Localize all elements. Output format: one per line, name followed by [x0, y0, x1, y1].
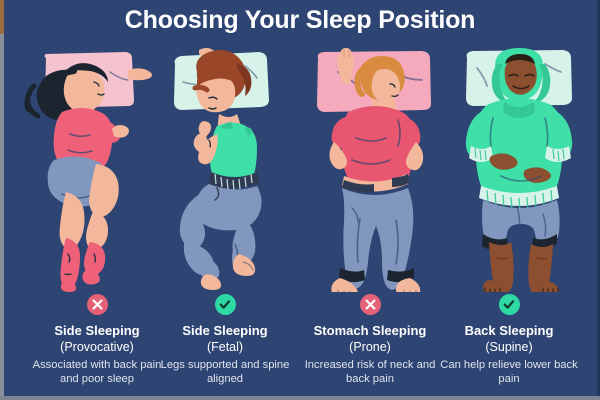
caption-row: Side Sleeping (Provocative) Associated w…: [0, 294, 600, 400]
caption-title: Back Sleeping: [434, 323, 584, 339]
left-edge-strip: [0, 0, 4, 400]
illustration-row: [0, 42, 600, 292]
page-title: Choosing Your Sleep Position: [0, 4, 600, 36]
caption-title: Side Sleeping: [150, 323, 300, 339]
column-back-supine: Back Sleeping (Supine) Can help relieve …: [434, 294, 584, 386]
column-side-fetal: Side Sleeping (Fetal) Legs supported and…: [150, 294, 300, 386]
sleep-position-infographic: Choosing Your Sleep Position: [0, 0, 600, 400]
left-edge-warm-strip: [0, 0, 4, 34]
figure-woman-side-sleeping-provocative: [10, 42, 160, 292]
figure-woman-side-sleeping-fetal: [155, 42, 305, 292]
figure-man-back-sleeping-supine: [445, 42, 595, 292]
x-circle-icon: [360, 294, 381, 315]
check-circle-icon: [215, 294, 236, 315]
check-circle-icon: [499, 294, 520, 315]
caption-subtitle: (Fetal): [150, 339, 300, 355]
x-circle-icon: [87, 294, 108, 315]
caption-description: Legs supported and spine aligned: [150, 358, 300, 386]
pants-2: [195, 184, 262, 230]
column-stomach-prone: Stomach Sleeping (Prone) Increased risk …: [295, 294, 445, 386]
caption-title: Stomach Sleeping: [295, 323, 445, 339]
caption-subtitle: (Supine): [434, 339, 584, 355]
caption-description: Increased risk of neck and back pain: [295, 358, 445, 386]
caption-description: Can help relieve lower back pain: [434, 358, 584, 386]
caption-subtitle: (Prone): [295, 339, 445, 355]
figure-man-stomach-sleeping-prone: [300, 42, 450, 292]
bottom-edge-strip: [0, 396, 600, 400]
